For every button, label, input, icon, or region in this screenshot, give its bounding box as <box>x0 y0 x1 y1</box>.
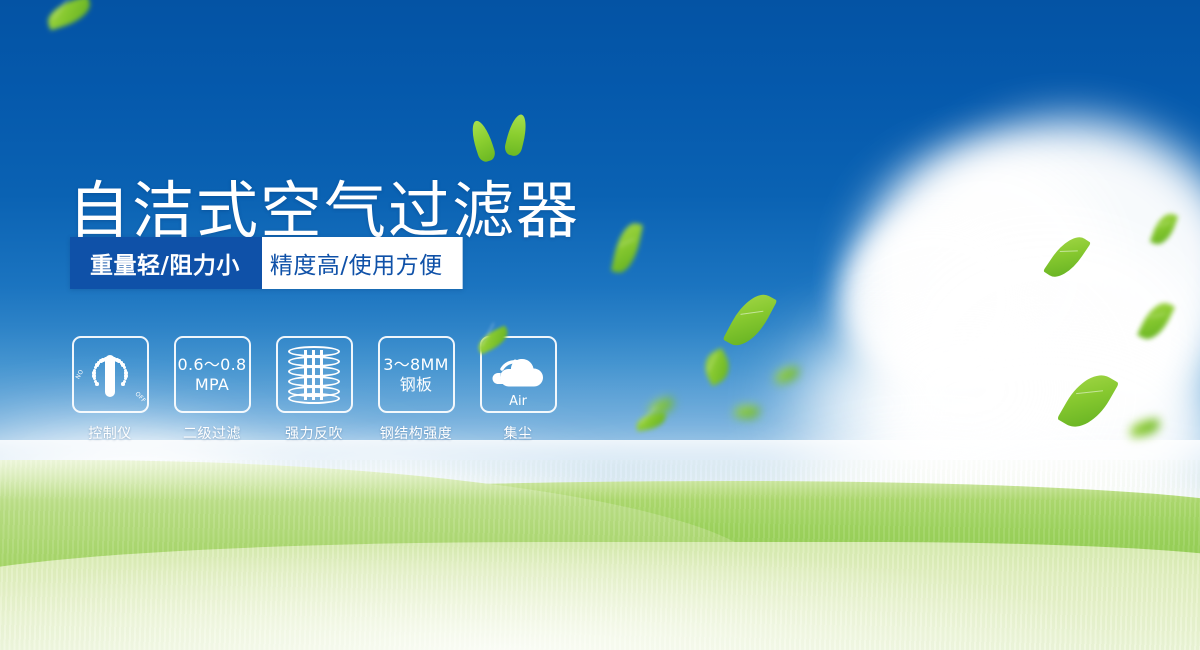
page-title: 自洁式空气过滤器 <box>68 180 580 242</box>
sprout-leaf-right <box>503 113 530 158</box>
subtitle-primary: 重量轻/阻力小 <box>70 237 262 289</box>
field-sun-glow <box>0 530 1200 650</box>
filter-ring <box>288 356 340 367</box>
control-dial-icon: NO OFF <box>79 344 141 406</box>
steel-material: 钢板 <box>383 375 448 395</box>
steel-plate-text-icon: 3〜8MM 钢板 <box>383 355 448 395</box>
feature-item-steel-strength[interactable]: 3〜8MM 钢板 钢结构强度 <box>376 336 456 443</box>
feature-item-blowback[interactable]: 强力反吹 <box>274 336 354 443</box>
pressure-range: 0.6〜0.8 <box>178 355 247 374</box>
feature-icon-box: 0.6〜0.8 MPA <box>174 336 251 413</box>
feature-label: 钢结构强度 <box>380 423 453 443</box>
filter-ring <box>288 366 340 377</box>
dial-label-off: OFF <box>134 390 148 404</box>
feature-label: 控制仪 <box>88 423 132 443</box>
dial-dot <box>121 382 125 386</box>
horizon-blend <box>0 440 1200 500</box>
feature-label: 强力反吹 <box>285 423 343 443</box>
filter-ring <box>288 376 340 387</box>
feature-label: 二级过滤 <box>183 423 241 443</box>
feature-list: NO OFF 控制仪 0.6〜0.8 MPA 二级过滤 <box>70 336 558 443</box>
feature-item-dust-collection[interactable]: Air 集尘 <box>478 336 558 443</box>
subtitle-secondary: 精度高/使用方便 <box>246 237 463 289</box>
pressure-unit: MPA <box>178 375 247 395</box>
sprout-decoration <box>474 112 534 162</box>
steel-thickness: 3〜8MM <box>383 355 448 374</box>
subtitle-bar: 重量轻/阻力小 精度高/使用方便 <box>70 237 463 289</box>
air-cloud-icon: Air <box>489 355 547 395</box>
blowback-filter-icon <box>288 346 340 404</box>
filter-ring <box>288 393 340 404</box>
feature-icon-box: Air <box>480 336 557 413</box>
feature-item-control-dial[interactable]: NO OFF 控制仪 <box>70 336 150 443</box>
feature-item-two-stage-filter[interactable]: 0.6〜0.8 MPA 二级过滤 <box>172 336 252 443</box>
air-label: Air <box>489 394 547 409</box>
dial-label-on: NO <box>75 368 86 380</box>
feature-icon-box: NO OFF <box>72 336 149 413</box>
feature-icon-box <box>276 336 353 413</box>
dial-indicator-bar <box>105 355 115 397</box>
feature-label: 集尘 <box>504 423 533 443</box>
filter-ring <box>288 346 340 357</box>
feature-icon-box: 3〜8MM 钢板 <box>378 336 455 413</box>
pressure-text-icon: 0.6〜0.8 MPA <box>178 355 247 395</box>
product-hero-banner: 自洁式空气过滤器 重量轻/阻力小 精度高/使用方便 NO OFF 控制仪 0.6… <box>0 0 1200 650</box>
